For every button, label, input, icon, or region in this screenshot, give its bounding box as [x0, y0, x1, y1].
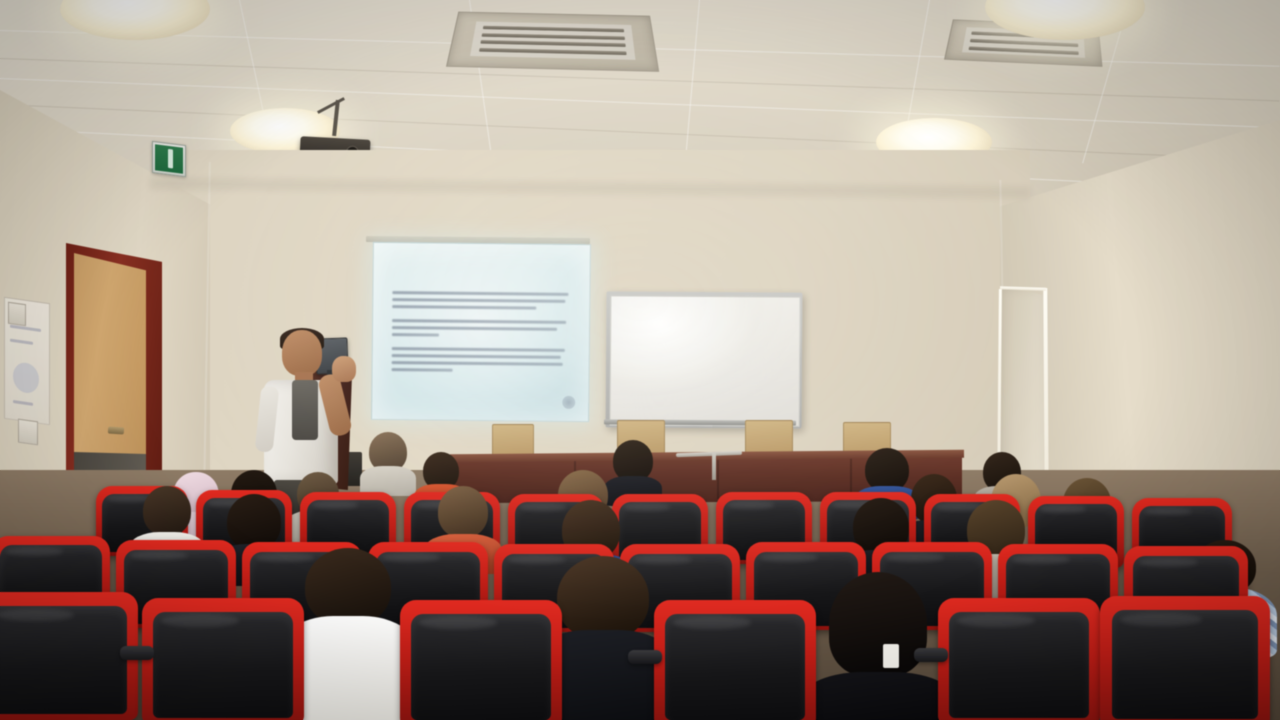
body [803, 672, 953, 720]
seat-r2-3[interactable] [400, 600, 562, 720]
projector-mount-brace [317, 97, 345, 114]
projection-screen [371, 242, 591, 422]
attendee-longhair-front [820, 572, 936, 720]
handrail-post [712, 452, 716, 480]
exit-sign [152, 141, 186, 177]
presenter-head [282, 330, 322, 376]
door-handle[interactable] [108, 426, 124, 434]
whiteboard-surface [610, 295, 801, 426]
head [305, 548, 391, 626]
ac-vent-center [446, 12, 659, 72]
seat-armrest-right [914, 648, 948, 662]
attendee-center-far [608, 440, 658, 498]
dome-light-front-left [60, 0, 210, 40]
head [557, 556, 649, 640]
slide-logo-icon [562, 396, 575, 409]
seat-r2-2[interactable] [142, 598, 304, 720]
slide-paragraph-2 [392, 319, 572, 342]
presenter-right-hand [332, 356, 356, 382]
whiteboard [606, 291, 803, 428]
seat-r2-4[interactable] [654, 600, 816, 720]
seat-armrest-left [120, 646, 154, 660]
seat-armrest-center [628, 650, 662, 664]
head [143, 486, 191, 536]
seat-r2-5[interactable] [938, 598, 1100, 720]
presenter-undershirt [292, 380, 318, 440]
attendee-white-tshirt-front [296, 548, 400, 720]
seat-r2-6[interactable] [1100, 596, 1270, 720]
seat-r2-1[interactable] [0, 592, 138, 720]
head [438, 486, 488, 538]
head [829, 572, 927, 676]
attendee-center-front [548, 556, 658, 720]
slide-paragraph-3 [392, 347, 572, 377]
lecture-room-photo [0, 0, 1280, 720]
outlet-plate[interactable] [18, 419, 38, 446]
slide-paragraph-1 [393, 291, 573, 314]
light-switch-plate[interactable] [8, 302, 26, 327]
hair-clip [883, 644, 899, 668]
attendee-far-left-a [364, 432, 412, 488]
